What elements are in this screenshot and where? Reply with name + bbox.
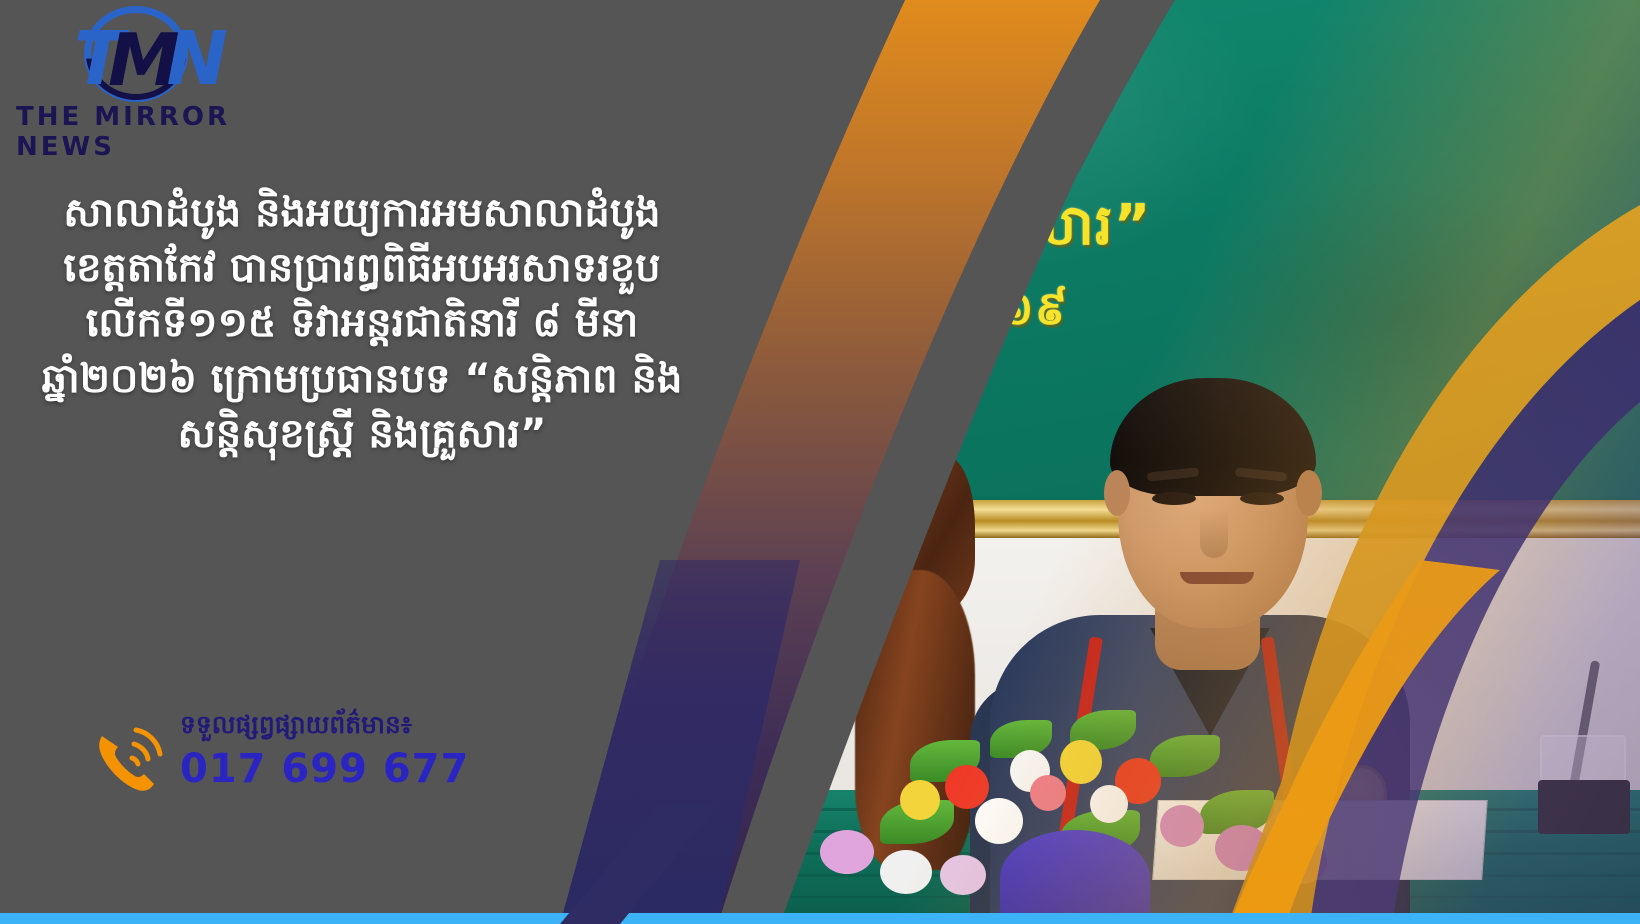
microphone-base: [1538, 780, 1630, 834]
headline: សាលាដំបូង និងអយ្យការអមសាលាដំបូង ខេត្តតាក…: [12, 186, 712, 462]
logo-letter-n: N: [166, 22, 222, 96]
phone-ringing-icon: [88, 720, 178, 796]
wall-banner-line-3: .ស.២៥៦៩: [850, 280, 1068, 347]
headline-line-4: ឆ្នាំ២០២៦ ក្រោមប្រធានបទ “សន្តិភាព និង: [12, 352, 712, 407]
wall-banner-line-4: ា: [820, 370, 858, 432]
person-nose: [1200, 510, 1228, 558]
banner-canvas: ា២០២៦ ស្ត្រី និងគ្រួសារ” .ស.២៥៦៩ ា: [0, 0, 1640, 924]
logo-mark: T N M: [60, 4, 230, 104]
headline-line-3: លើកទី១១៥ ទិវាអន្តរជាតិនារី ៨ មីនា: [12, 296, 712, 351]
bottom-accent-bar: [0, 913, 1640, 924]
person-eye-left: [1152, 492, 1196, 505]
person-ear-right: [1296, 470, 1322, 516]
wall-banner-line-2: ស្ត្រី និងគ្រួសារ”: [805, 190, 1152, 272]
person-mouth: [1180, 572, 1254, 584]
contact-block[interactable]: ទទួលផ្សព្វផ្សាយព័ត៌មាន៖ 017 699 677: [88, 706, 508, 806]
contact-label: ទទួលផ្សព្វផ្សាយព័ត៌មាន៖: [180, 710, 412, 746]
wall-banner-line-1: ា២០២៦: [850, 105, 1076, 190]
headline-line-1: សាលាដំបូង និងអយ្យការអមសាលាដំបូង: [12, 186, 712, 241]
contact-number[interactable]: 017 699 677: [180, 746, 469, 792]
headline-line-2: ខេត្តតាកែវ បានប្រារព្ធពិធីអបអរសាទរខួប: [12, 241, 712, 296]
event-photo: ា២០២៦ ស្ត្រី និងគ្រួសារ” .ស.២៥៦៩ ា: [700, 0, 1640, 924]
headline-line-5: សន្តិសុខស្ត្រី និងគ្រួសារ”: [12, 407, 712, 462]
logo[interactable]: T N M THE MIRROR NEWS: [8, 2, 268, 142]
logo-letter-m: M: [108, 24, 172, 96]
logo-wordmark: THE MIRROR NEWS: [16, 102, 266, 162]
person-eye-right: [1240, 492, 1284, 505]
person-ear-left: [1104, 470, 1130, 516]
